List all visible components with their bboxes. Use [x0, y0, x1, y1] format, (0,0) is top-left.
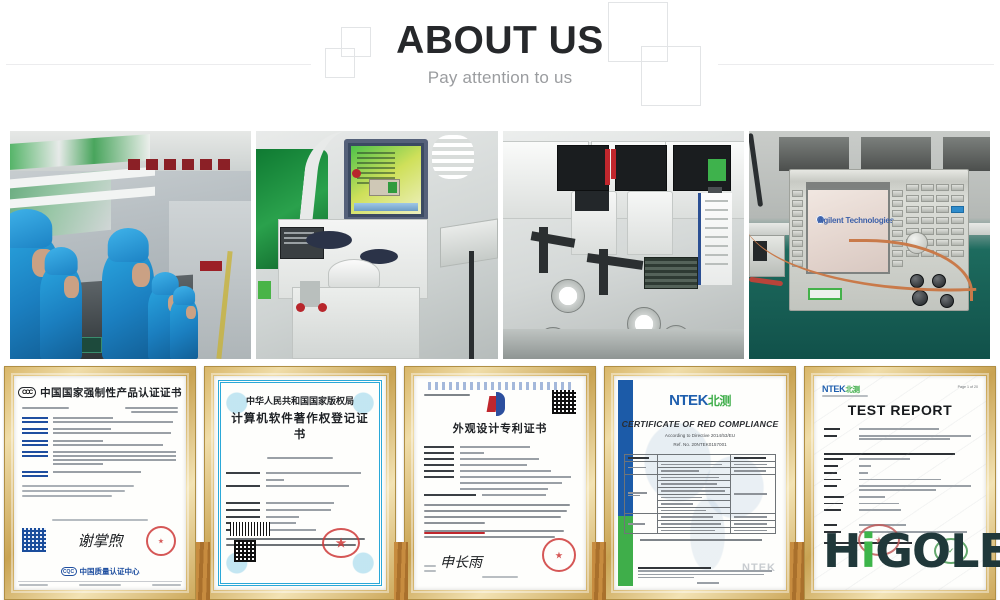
red-compliance-title: CERTIFICATE OF RED COMPLIANCE: [614, 419, 786, 429]
red-compliance-refno: Ref. No. 20NTEK0157001: [614, 442, 786, 447]
certificate-frame-red-compliance[interactable]: CERTIFICATE OF COMPLIANCE NTEK北测 CERTIFI…: [604, 366, 796, 600]
certificate-frame-ccc[interactable]: CCC 中国国家强制性产品认证证书: [4, 366, 196, 600]
photo-assembly-line-workers: [10, 131, 251, 359]
cqc-badge-icon: CQC: [61, 567, 77, 576]
ntek-brand-logo: NTEK北测: [614, 392, 786, 409]
red-compliance-footer: [638, 567, 778, 584]
cqc-org-name: 中国质量认证中心: [80, 566, 140, 577]
copyright-title-line2: 计算机软件著作权登记证书: [226, 410, 374, 442]
higole-logo: HiGOLE 高乐: [823, 528, 1000, 574]
report-page-note: Page 1 of 20: [958, 385, 978, 389]
page-subtitle: Pay attention to us: [0, 66, 1000, 90]
certificate-frame-design-patent[interactable]: 外观设计专利证书: [404, 366, 596, 600]
copyright-red-seal: ★: [322, 528, 360, 558]
copyright-barcode: [230, 522, 270, 536]
patent-certificate-title: 外观设计专利证书: [414, 420, 586, 436]
patent-red-seal: ★: [542, 538, 576, 572]
patent-signature: 申长雨: [440, 552, 482, 572]
photo-pick-and-place-machines: [503, 131, 744, 359]
ccc-red-seal: ★: [146, 526, 176, 556]
photo-rf-test-equipment: Agilent Technologies: [749, 131, 990, 359]
copyright-qr-code: [234, 540, 256, 562]
red-compliance-standards-table: [624, 454, 775, 534]
header-title-block: ABOUT US Pay attention to us: [0, 18, 1000, 90]
photo-smt-inspection-machine: [256, 131, 497, 359]
machine-monitor-screen: [344, 139, 428, 221]
copyright-title-line1: 中华人民共和国国家版权局: [226, 394, 374, 407]
higole-wordmark: HiGOLE: [823, 528, 1000, 574]
page-title: ABOUT US: [0, 18, 1000, 64]
page-header: ABOUT US Pay attention to us: [0, 0, 1000, 122]
ntek-brand-logo-report: NTEK北测: [822, 384, 860, 395]
factory-photo-strip: Agilent Technologies: [10, 131, 990, 359]
certificate-frame-software-copyright[interactable]: 中华人民共和国国家版权局 计算机软件著作权登记证书: [204, 366, 396, 600]
cnipa-logo-icon: [488, 392, 512, 416]
ccc-badge-icon: CCC: [18, 387, 36, 398]
ccc-certificate-title: 中国国家强制性产品认证证书: [40, 385, 182, 400]
red-compliance-directive: According to Directive 2014/53/EU: [614, 433, 786, 438]
ccc-signature: 谢掌煦: [77, 530, 122, 551]
patent-qr-code: [552, 390, 576, 414]
ccc-qr-code: [22, 528, 46, 552]
